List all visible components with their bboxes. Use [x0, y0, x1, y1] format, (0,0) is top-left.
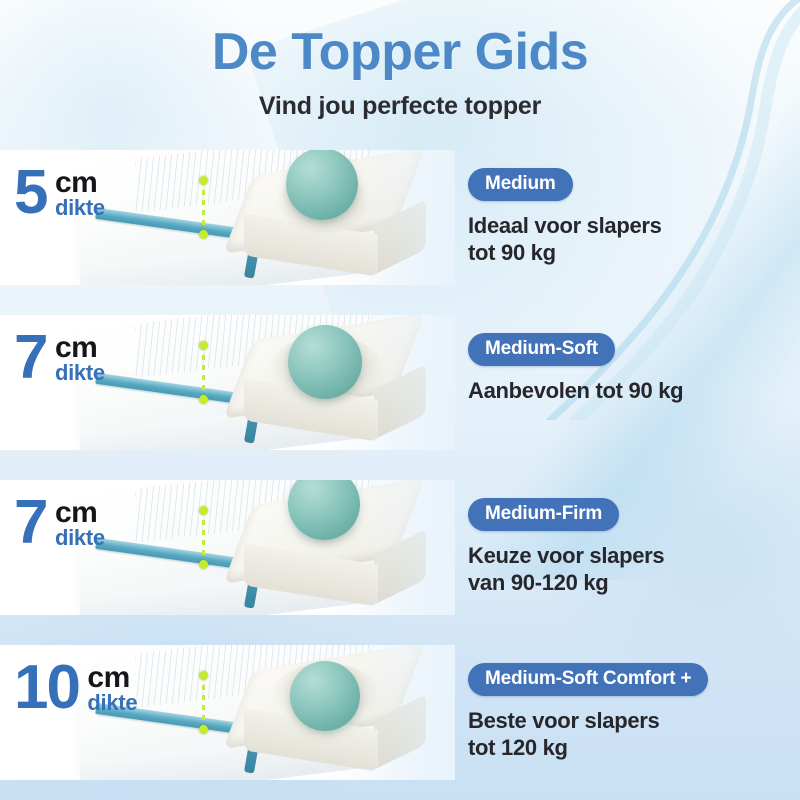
gauge-dot-top — [199, 341, 208, 350]
foam-block — [238, 659, 428, 771]
thickness-gauge-line — [202, 345, 205, 399]
thickness-number: 5 — [14, 166, 46, 220]
desc-line-2: tot 90 kg — [468, 239, 788, 266]
status-badge[interactable]: Medium — [468, 168, 573, 201]
thickness-units: cm dikte — [55, 496, 105, 550]
status-badge[interactable]: Medium-Soft Comfort + — [468, 663, 708, 696]
guide-row: 10 cm dikte Medium-Soft Comfort + Beste … — [0, 645, 800, 780]
unit-dikte: dikte — [55, 196, 105, 220]
foam-block — [238, 494, 428, 606]
foam-side-face — [374, 199, 426, 274]
pressure-ball — [288, 325, 362, 399]
firmness-info: Medium-Soft Comfort + Beste voor slapers… — [468, 663, 788, 761]
gauge-dot-bottom — [199, 230, 208, 239]
unit-dikte: dikte — [55, 526, 105, 550]
firmness-info: Medium-Firm Keuze voor slapers van 90-12… — [468, 498, 788, 596]
firmness-description: Beste voor slapers tot 120 kg — [468, 707, 788, 761]
foam-side-face — [374, 529, 426, 604]
thickness-units: cm dikte — [87, 661, 137, 715]
desc-line-2: tot 120 kg — [468, 734, 788, 761]
firmness-description: Ideaal voor slapers tot 90 kg — [468, 212, 788, 266]
thickness-number: 7 — [14, 331, 46, 385]
thickness-number: 7 — [14, 496, 46, 550]
firmness-description: Aanbevolen tot 90 kg — [468, 377, 788, 404]
thickness-gauge-line — [202, 675, 205, 729]
page-subtitle: Vind jou perfecte topper — [0, 92, 800, 121]
thickness-units: cm dikte — [55, 331, 105, 385]
thickness-gauge-line — [202, 510, 205, 564]
pressure-ball — [290, 661, 360, 731]
unit-cm: cm — [55, 335, 105, 361]
guide-row: 5 cm dikte Medium Ideaal voor slapers to… — [0, 150, 800, 285]
desc-line-1: Ideaal voor slapers — [468, 212, 788, 239]
unit-cm: cm — [55, 500, 105, 526]
foam-block — [238, 164, 428, 276]
gauge-dot-top — [199, 506, 208, 515]
unit-cm: cm — [55, 170, 105, 196]
unit-cm: cm — [87, 665, 137, 691]
thickness-number: 10 — [14, 661, 79, 715]
desc-line-2: van 90-120 kg — [468, 569, 788, 596]
firmness-info: Medium-Soft Aanbevolen tot 90 kg — [468, 333, 788, 404]
gauge-dot-top — [199, 176, 208, 185]
thickness-label: 7 cm dikte — [14, 331, 105, 385]
thickness-units: cm dikte — [55, 166, 105, 220]
unit-dikte: dikte — [55, 361, 105, 385]
guide-row: 7 cm dikte Medium-Firm Keuze voor slaper… — [0, 480, 800, 615]
gauge-dot-bottom — [199, 395, 208, 404]
thickness-label: 5 cm dikte — [14, 166, 105, 220]
infographic-poster: De Topper Gids Vind jou perfecte topper — [0, 0, 800, 800]
page-title: De Topper Gids — [0, 0, 800, 78]
unit-dikte: dikte — [87, 691, 137, 715]
foam-side-face — [374, 694, 426, 769]
thickness-label: 10 cm dikte — [14, 661, 137, 715]
gauge-dot-bottom — [199, 560, 208, 569]
desc-line-1: Beste voor slapers — [468, 707, 788, 734]
desc-line-1: Aanbevolen tot 90 kg — [468, 377, 788, 404]
poster-header: De Topper Gids Vind jou perfecte topper — [0, 0, 800, 121]
comparison-rows: 5 cm dikte Medium Ideaal voor slapers to… — [0, 150, 800, 800]
firmness-info: Medium Ideaal voor slapers tot 90 kg — [468, 168, 788, 266]
foam-block — [238, 329, 428, 441]
thickness-gauge-line — [202, 180, 205, 234]
gauge-dot-bottom — [199, 725, 208, 734]
pressure-ball — [286, 150, 358, 220]
gauge-dot-top — [199, 671, 208, 680]
status-badge[interactable]: Medium-Firm — [468, 498, 619, 531]
status-badge[interactable]: Medium-Soft — [468, 333, 615, 366]
firmness-description: Keuze voor slapers van 90-120 kg — [468, 542, 788, 596]
thickness-label: 7 cm dikte — [14, 496, 105, 550]
foam-side-face — [374, 364, 426, 439]
guide-row: 7 cm dikte Medium-Soft Aanbevolen tot 90… — [0, 315, 800, 450]
desc-line-1: Keuze voor slapers — [468, 542, 788, 569]
